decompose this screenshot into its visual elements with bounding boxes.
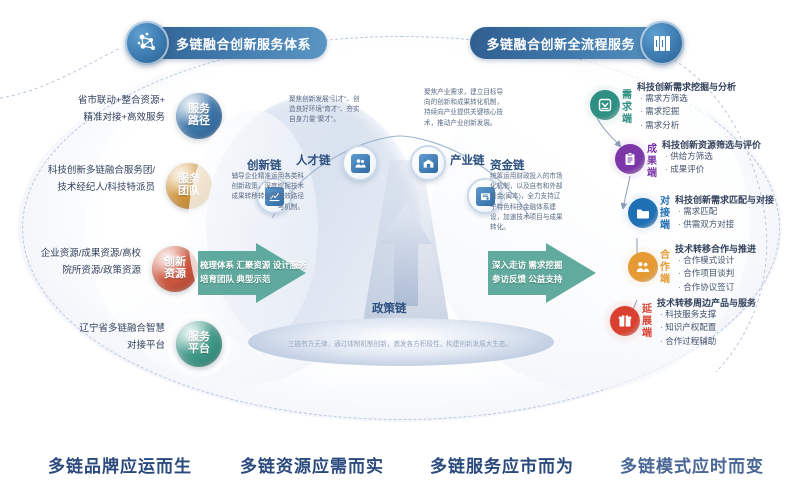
caption-3-line-1: 对接平台: [45, 338, 165, 355]
headline-0: 多链品牌应运而生: [48, 452, 192, 477]
flow-bullet-3-0: 合作模式设计: [683, 255, 734, 265]
headline-2: 多链服务应市而为: [430, 452, 574, 477]
chain-name-talent: 人才链: [296, 152, 331, 168]
title-pill-left-label: 多链融合创新服务体系: [176, 34, 311, 53]
flow-bullet-4-0: 科技服务支撑: [665, 309, 716, 319]
flow-bullets-2: · 需求匹配 · 供需双方对接: [678, 205, 734, 232]
flow-tag-2: 对接端: [660, 196, 671, 231]
title-pill-right-label: 多链融合创新全流程服务: [486, 34, 635, 53]
headline-1: 多链资源应需而实: [240, 452, 384, 477]
flow-tag-3: 合作端: [660, 250, 671, 285]
caption-service-platform: 辽宁省多链融合智慧 对接平台: [45, 321, 165, 354]
sphere-line-3-1: 平台: [188, 344, 210, 356]
caption-1-line-0: 科技创新多链融合服务团/: [15, 163, 155, 180]
chain-desc-capital: 统筹运用财政投入的市场化机制，以及自有和外部资金(闽本)，全力支持辽宁特色科技金…: [490, 172, 566, 233]
caption-service-team: 科技创新多链融合服务团/ 技术经纪人/科技特派员: [15, 163, 155, 196]
caption-0-line-1: 精准对接+高效服务: [35, 110, 165, 127]
flow-tag-0: 需求端: [622, 90, 633, 125]
caption-innovation-resource: 企业资源/成果资源/高校 院所资源/政策资源: [15, 246, 141, 279]
flow-bullet-2-0: 需求匹配: [683, 206, 717, 216]
caption-2-line-0: 企业资源/成果资源/高校: [15, 246, 141, 263]
arrow-left-line-0: 梳理体系 汇聚资源 设计服务: [200, 258, 307, 272]
flow-bullets-3: · 合作模式设计 · 合作项目谈判 · 合作协议签订: [678, 254, 734, 294]
policy-chain-label: 政策链: [372, 300, 407, 316]
chain-name-capital: 资金链: [490, 157, 525, 173]
sphere-service-platform[interactable]: 服务 平台: [176, 321, 222, 367]
chain-desc-innovation: 辅导企业精准运用各类科创新政策，深度挖掘技术成果转移转化的有效路径与机制。: [228, 172, 304, 213]
flow-icon-handshake-people[interactable]: [628, 252, 658, 282]
caption-0-line-0: 省市联动+整合资源+: [35, 93, 165, 110]
flow-bullet-1-0: 供给方筛选: [670, 151, 713, 161]
flow-bullet-4-1: 知识产权配置: [665, 322, 716, 332]
flow-icon-clipboard[interactable]: [615, 144, 645, 174]
flow-bullet-4-2: 合作过程辅助: [665, 336, 716, 346]
flow-bullets-1: · 供给方筛选 · 成果评价: [665, 150, 713, 177]
chain-desc-industry: 聚焦产业需求，建立目标导向的创新和成果转化机制，持续向产业提供关键核心技术，推动…: [424, 88, 508, 129]
books-icon: [640, 21, 684, 65]
arrow-left-label: 梳理体系 汇聚资源 设计服务 培育团队 典型示范: [200, 258, 307, 287]
flow-bullet-0-1: 需求挖掘: [645, 106, 679, 116]
people-icon: [351, 154, 370, 173]
flow-bullet-3-2: 合作协议签订: [683, 282, 734, 292]
flow-icon-folder[interactable]: [628, 198, 658, 228]
flow-icon-gift-box[interactable]: [610, 306, 640, 336]
arrow-left-line-1: 培育团队 典型示范: [200, 272, 307, 286]
infographic-canvas: 多链融合创新服务体系 多链融合创新全流程服务: [0, 0, 799, 500]
flow-bullet-1-1: 成果评价: [670, 164, 704, 174]
network-nodes-icon: [125, 21, 169, 65]
arrow-right-line-1: 参访反馈 公益支持: [492, 272, 562, 286]
flow-tag-4: 延展端: [642, 304, 653, 339]
caption-2-line-1: 院所资源/政策资源: [15, 263, 141, 280]
caption-3-line-0: 辽宁省多链融合智慧: [45, 321, 165, 338]
chain-desc-talent: 聚焦创新发展"引才"、创造良好环境"育才"、夯实自身力量"聚才"。: [289, 95, 365, 126]
chain-name-industry: 产业链: [450, 152, 485, 168]
caption-1-line-1: 技术经纪人/科技特派员: [15, 180, 155, 197]
flow-bullet-2-1: 供需双方对接: [683, 219, 734, 229]
flow-icon-inbox[interactable]: [590, 90, 620, 120]
flow-bullet-3-1: 合作项目谈判: [683, 268, 734, 278]
policy-chain-desc: 三链有方无律，通过体制机制创新，激发各方积极性，构建创新发展大生态。: [250, 338, 550, 348]
flow-bullet-0-0: 需求方筛选: [645, 93, 688, 103]
factory-icon: [419, 154, 438, 173]
flow-bullets-4: · 科技服务支撑 · 知识产权配置 · 合作过程辅助: [660, 308, 716, 348]
chain-name-innovation: 创新链: [247, 157, 282, 173]
chain-node-industry[interactable]: [410, 145, 446, 181]
flow-tag-1: 成果端: [647, 144, 658, 179]
arrow-right-label: 深入走访 需求挖掘 参访反馈 公益支持: [492, 258, 562, 287]
arrow-right-line-0: 深入走访 需求挖掘: [492, 258, 562, 272]
headline-3: 多链模式应时而变: [620, 452, 764, 477]
sphere-line-2-1: 资源: [164, 269, 186, 281]
flow-bullet-0-2: 需求分析: [645, 120, 679, 130]
chain-node-talent[interactable]: [342, 145, 378, 181]
flow-bullets-0: · 需求方筛选 · 需求挖掘 · 需求分析: [640, 92, 688, 132]
caption-service-path: 省市联动+整合资源+ 精准对接+高效服务: [35, 93, 165, 126]
